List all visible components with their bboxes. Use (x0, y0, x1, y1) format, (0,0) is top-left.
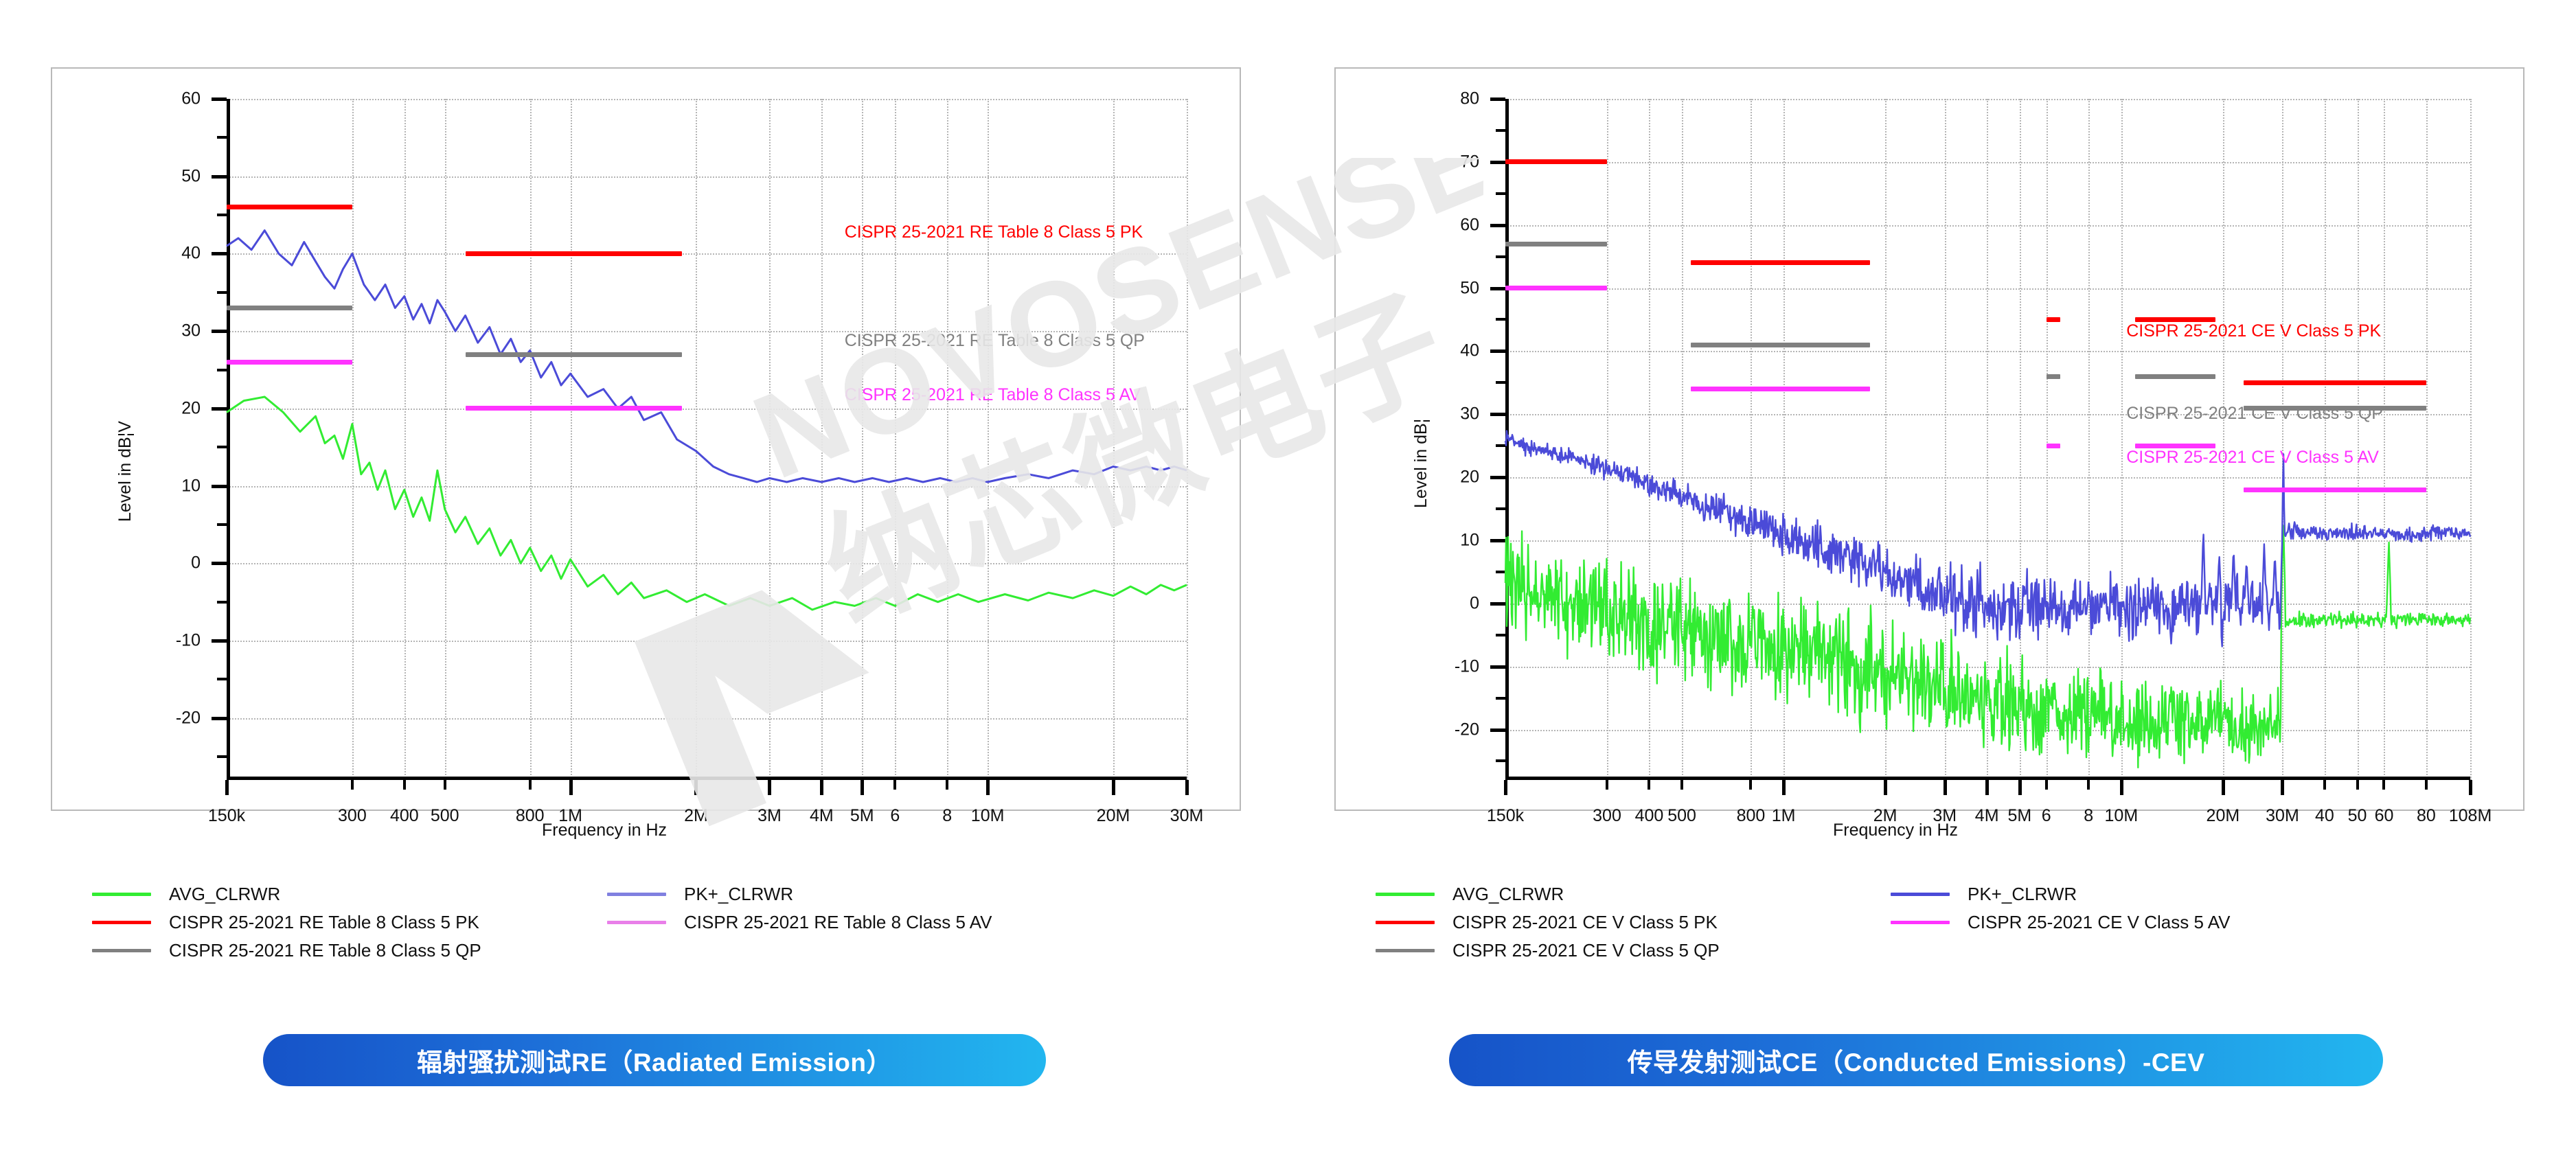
limit-annotation: CISPR 25-2021 CE V Class 5 QP (2126, 404, 2383, 424)
y-tick-label: 10 (181, 476, 201, 496)
y-tick-label: -10 (176, 631, 201, 651)
screenshot-root: 6050403020100-10-20150k3004005008001M2M3… (0, 0, 2576, 1159)
x-tick-label: 300 (1593, 806, 1621, 826)
y-tick-label: -10 (1455, 656, 1479, 676)
legend-swatch (607, 921, 666, 924)
legend-item[interactable]: PK+_CLRWR (607, 882, 793, 906)
y-tick (212, 485, 227, 488)
x-tick (694, 780, 698, 795)
y-tick (212, 717, 227, 720)
legend-swatch (1376, 893, 1435, 896)
limit-line (227, 306, 352, 310)
x-tick-label: 150k (1487, 806, 1524, 826)
y-tick (1490, 476, 1505, 479)
x-tick (403, 780, 406, 790)
legend-label: CISPR 25-2021 CE V Class 5 PK (1452, 912, 1718, 933)
x-tick (1749, 780, 1752, 790)
y-tick (1490, 349, 1505, 353)
x-tick-label: 50 (2348, 806, 2367, 826)
trace-avg-clrwr (227, 397, 1187, 610)
x-tick (569, 780, 573, 795)
legend-item[interactable]: CISPR 25-2021 RE Table 8 Class 5 AV (607, 910, 992, 934)
legend-item[interactable]: CISPR 25-2021 RE Table 8 Class 5 QP (92, 939, 481, 962)
y-tick-minor (217, 136, 227, 139)
limit-line (1505, 286, 1607, 290)
limit-line (1505, 242, 1607, 246)
x-tick-label: 500 (431, 806, 459, 826)
yaxis-title-ce: Level in dB¦ (1411, 419, 1431, 508)
limit-annotation: CISPR 25-2021 CE V Class 5 PK (2126, 321, 2381, 341)
y-tick-minor (1496, 129, 1505, 132)
x-tick-label: 400 (1635, 806, 1664, 826)
x-tick (529, 780, 532, 790)
x-tick-label: 6 (2042, 806, 2051, 826)
limit-annotation: CISPR 25-2021 RE Table 8 Class 5 QP (845, 331, 1145, 351)
x-tick-label: 4M (1975, 806, 1999, 826)
x-tick-label: 60 (2375, 806, 2394, 826)
y-tick-label: 50 (1460, 278, 1479, 298)
y-tick-minor (217, 601, 227, 604)
x-tick (444, 780, 446, 790)
x-tick (1606, 780, 1608, 790)
x-tick (860, 780, 864, 795)
x-tick (2222, 780, 2225, 795)
y-tick-label: -20 (176, 708, 201, 728)
xaxis-title-re: Frequency in Hz (542, 821, 667, 840)
trace-pk-clrwr (227, 231, 1187, 482)
y-tick-minor (1496, 444, 1505, 447)
y-tick (1490, 97, 1505, 101)
legend-label: CISPR 25-2021 CE V Class 5 AV (1968, 912, 2230, 933)
x-tick-label: 800 (1737, 806, 1766, 826)
chart-panel-ce: 80706050403020100-10-20150k3004005008001… (1334, 67, 2524, 811)
y-tick-minor (217, 291, 227, 294)
limit-line (2135, 374, 2215, 379)
y-tick (1490, 602, 1505, 606)
x-tick-label: 6 (890, 806, 900, 826)
y-tick-label: 60 (181, 89, 201, 109)
x-tick (2018, 780, 2022, 795)
y-tick (1490, 539, 1505, 542)
gridline-vertical (2470, 99, 2472, 780)
y-tick-minor (217, 755, 227, 758)
y-tick-label: 0 (191, 553, 201, 573)
x-tick-label: 5M (2007, 806, 2031, 826)
xaxis-title-ce: Frequency in Hz (1833, 821, 1958, 840)
y-tick (212, 330, 227, 333)
y-tick-label: 0 (1470, 593, 1479, 613)
y-tick-minor (217, 523, 227, 526)
y-tick (1490, 161, 1505, 164)
limit-line (227, 205, 352, 209)
x-tick (2120, 780, 2123, 795)
y-tick-label: 20 (181, 398, 201, 418)
limit-line (1505, 159, 1607, 164)
limit-line (1691, 260, 1870, 265)
y-tick-minor (1496, 381, 1505, 384)
gridline-vertical (1187, 99, 1188, 780)
y-tick-minor (1496, 571, 1505, 573)
x-tick-label: 3M (757, 806, 782, 826)
legend-label: AVG_CLRWR (169, 884, 280, 905)
limit-line (2244, 380, 2426, 385)
y-tick-label: 40 (1460, 341, 1479, 361)
x-tick (1985, 780, 1989, 795)
x-tick-label: 1M (1772, 806, 1796, 826)
legend-swatch (1891, 893, 1950, 896)
x-tick (2087, 780, 2090, 790)
x-tick (986, 780, 990, 795)
x-tick-label: 8 (942, 806, 952, 826)
y-tick-minor (1496, 634, 1505, 636)
y-tick-label: -20 (1455, 720, 1479, 739)
x-tick-label: 4M (810, 806, 834, 826)
legend-swatch (92, 893, 151, 896)
x-tick (2281, 780, 2284, 795)
x-tick (1504, 780, 1507, 795)
y-tick (1490, 224, 1505, 227)
x-tick (351, 780, 354, 790)
legend-swatch (1891, 921, 1950, 924)
y-tick-label: 80 (1460, 89, 1479, 109)
legend-re: AVG_CLRWRCISPR 25-2021 RE Table 8 Class … (51, 882, 1241, 985)
x-tick-label: 150k (208, 806, 245, 826)
trace-layer (1505, 99, 2470, 780)
yaxis-title-re: Level in dB¦V (115, 421, 135, 522)
x-tick-label: 800 (516, 806, 545, 826)
legend-label: PK+_CLRWR (684, 884, 793, 905)
caption-pill-ce[interactable]: 传导发射测试CE（Conducted Emissions）-CEV (1449, 1034, 2383, 1086)
x-tick-label: 10M (2105, 806, 2139, 826)
x-tick (2356, 780, 2359, 790)
y-tick (212, 562, 227, 565)
x-tick (2469, 780, 2472, 795)
y-tick-minor (217, 369, 227, 371)
limit-line (2244, 487, 2426, 492)
y-tick-minor (217, 214, 227, 216)
legend-item[interactable]: CISPR 25-2021 CE V Class 5 QP (1376, 939, 1720, 962)
legend-label: AVG_CLRWR (1452, 884, 1564, 905)
x-tick-label: 40 (2315, 806, 2334, 826)
limit-line (466, 406, 682, 411)
limit-line (1691, 343, 1870, 347)
y-tick (212, 97, 227, 101)
limit-line (1691, 387, 1870, 391)
x-tick (1944, 780, 1947, 795)
x-tick (2425, 780, 2428, 790)
limit-annotation: CISPR 25-2021 CE V Class 5 AV (2126, 448, 2379, 468)
trace-layer (227, 99, 1187, 780)
y-tick-minor (1496, 192, 1505, 195)
y-tick (1490, 413, 1505, 416)
y-tick-label: 70 (1460, 152, 1479, 172)
y-tick-minor (1496, 759, 1505, 762)
legend-item[interactable]: PK+_CLRWR (1891, 882, 2077, 906)
y-tick-minor (217, 446, 227, 448)
y-tick-label: 20 (1460, 468, 1479, 487)
y-tick-minor (1496, 507, 1505, 510)
y-tick (1490, 287, 1505, 290)
caption-pill-ce-label: 传导发射测试CE（Conducted Emissions）-CEV (1628, 1042, 2205, 1079)
trace-avg-clrwr (1505, 526, 2470, 768)
y-tick-minor (1496, 255, 1505, 258)
y-tick-label: 40 (181, 244, 201, 264)
x-tick-label: 5M (850, 806, 874, 826)
x-tick-label: 500 (1667, 806, 1696, 826)
y-tick (212, 639, 227, 643)
x-tick (2382, 780, 2385, 790)
legend-item[interactable]: AVG_CLRWR (1376, 882, 1564, 906)
x-tick (225, 780, 229, 795)
x-tick (2323, 780, 2326, 790)
x-tick (1112, 780, 1115, 795)
x-tick-label: 8 (2084, 806, 2093, 826)
limit-line (2047, 374, 2060, 379)
legend-swatch (92, 949, 151, 952)
x-tick (1782, 780, 1786, 795)
plot-area-re: 6050403020100-10-20150k3004005008001M2M3… (227, 99, 1187, 780)
y-tick (212, 175, 227, 179)
legend-item[interactable]: CISPR 25-2021 CE V Class 5 PK (1376, 910, 1718, 934)
x-tick (893, 780, 896, 790)
limit-line (227, 360, 352, 365)
limit-line (2047, 317, 2060, 322)
x-tick (768, 780, 771, 795)
legend-label: PK+_CLRWR (1968, 884, 2077, 905)
y-tick-label: 60 (1460, 215, 1479, 235)
legend-label: CISPR 25-2021 RE Table 8 Class 5 PK (169, 912, 479, 933)
legend-item[interactable]: CISPR 25-2021 CE V Class 5 AV (1891, 910, 2230, 934)
legend-label: CISPR 25-2021 CE V Class 5 QP (1452, 940, 1720, 961)
legend-item[interactable]: AVG_CLRWR (92, 882, 280, 906)
y-tick (212, 252, 227, 255)
y-tick-label: 50 (181, 166, 201, 186)
y-tick-label: 30 (1460, 404, 1479, 424)
y-tick-minor (217, 678, 227, 680)
limit-annotation: CISPR 25-2021 RE Table 8 Class 5 AV (845, 385, 1141, 405)
x-tick-label: 20M (2207, 806, 2240, 826)
x-tick-label: 30M (1170, 806, 1204, 826)
y-tick-label: 10 (1460, 530, 1479, 550)
y-tick-minor (1496, 318, 1505, 321)
x-tick (1185, 780, 1189, 795)
x-tick (1680, 780, 1683, 790)
chart-panel-re: 6050403020100-10-20150k3004005008001M2M3… (51, 67, 1241, 811)
x-tick (820, 780, 823, 795)
limit-line (466, 352, 682, 357)
y-tick (212, 407, 227, 411)
legend-swatch (1376, 949, 1435, 952)
y-tick-minor (1496, 697, 1505, 700)
x-tick (946, 780, 948, 790)
x-tick-label: 400 (390, 806, 419, 826)
legend-swatch (92, 921, 151, 924)
x-tick (1648, 780, 1650, 790)
legend-item[interactable]: CISPR 25-2021 RE Table 8 Class 5 PK (92, 910, 479, 934)
x-tick-label: 80 (2417, 806, 2436, 826)
x-tick-label: 300 (338, 806, 367, 826)
legend-ce: AVG_CLRWRCISPR 25-2021 CE V Class 5 PKCI… (1334, 882, 2524, 985)
caption-pill-re-label: 辐射骚扰测试RE（Radiated Emission） (417, 1042, 892, 1079)
limit-annotation: CISPR 25-2021 RE Table 8 Class 5 PK (845, 222, 1143, 242)
x-tick (1884, 780, 1887, 795)
x-tick-label: 2M (684, 806, 708, 826)
plot-area-ce: 80706050403020100-10-20150k3004005008001… (1505, 99, 2470, 780)
legend-label: CISPR 25-2021 RE Table 8 Class 5 AV (684, 912, 992, 933)
limit-line (466, 251, 682, 256)
y-tick-label: 30 (181, 321, 201, 341)
x-tick-label: 108M (2449, 806, 2492, 826)
x-tick-label: 20M (1097, 806, 1130, 826)
legend-swatch (607, 893, 666, 896)
legend-label: CISPR 25-2021 RE Table 8 Class 5 QP (169, 940, 481, 961)
y-tick (1490, 728, 1505, 732)
legend-swatch (1376, 921, 1435, 924)
limit-line (2047, 444, 2060, 448)
y-tick (1490, 665, 1505, 669)
x-tick-label: 30M (2266, 806, 2299, 826)
x-tick-label: 10M (971, 806, 1005, 826)
caption-pill-re[interactable]: 辐射骚扰测试RE（Radiated Emission） (263, 1034, 1046, 1086)
x-tick (2045, 780, 2048, 790)
